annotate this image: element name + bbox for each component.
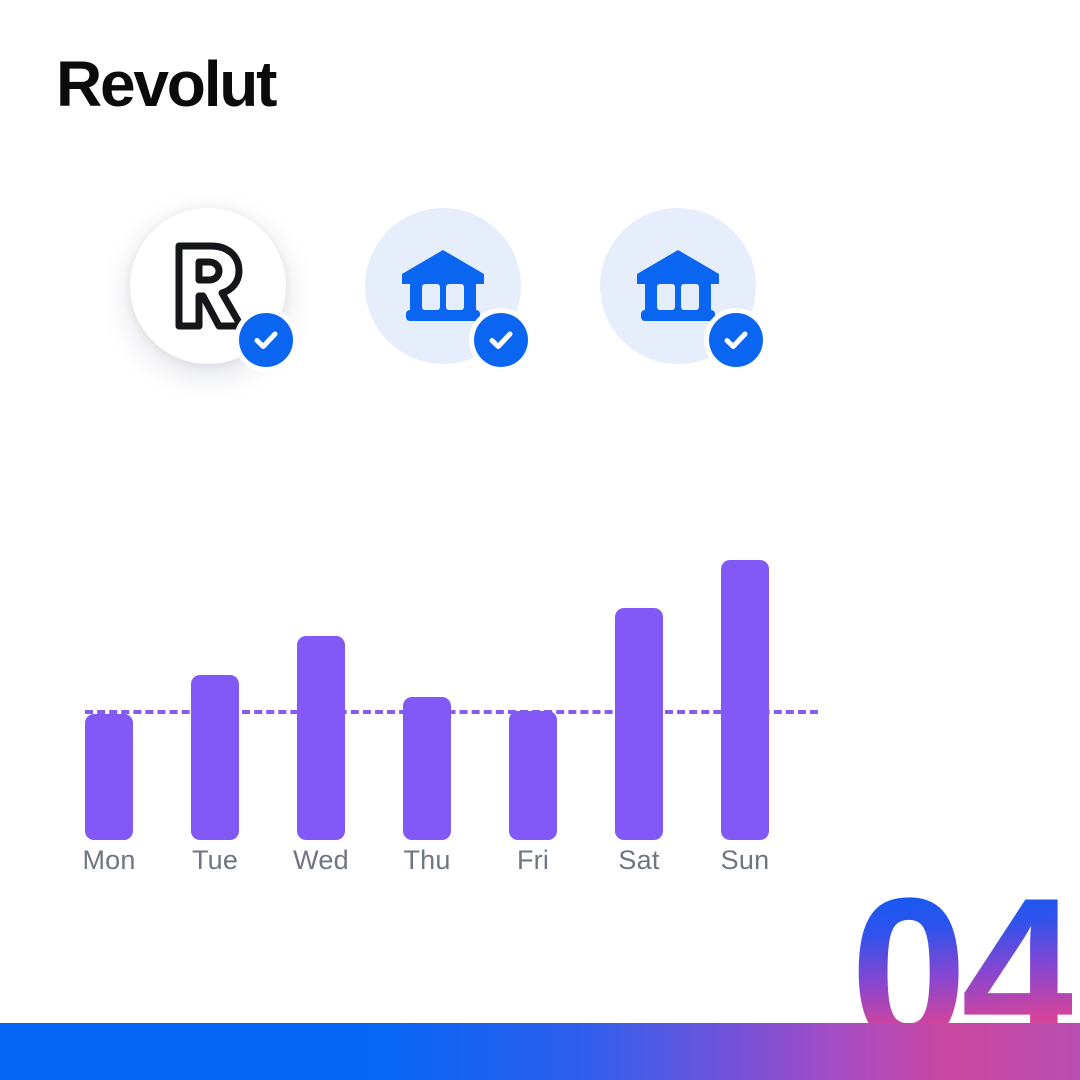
chart-bar[interactable] — [721, 560, 769, 840]
check-badge-icon — [239, 313, 293, 367]
chart-x-label: Thu — [372, 845, 482, 876]
chart-bar[interactable] — [191, 675, 239, 840]
revolut-r-logo-icon — [167, 240, 249, 332]
bank-icon — [400, 248, 486, 324]
account-item-bank-2[interactable] — [600, 208, 756, 364]
bank-icon — [635, 248, 721, 324]
chart-x-axis-labels: MonTueWedThuFriSatSun — [85, 845, 820, 885]
verified-badge — [704, 308, 768, 372]
verified-badge — [234, 308, 298, 372]
chart-bar[interactable] — [509, 711, 557, 840]
chart-bar[interactable] — [615, 608, 663, 840]
chart-bar[interactable] — [403, 697, 451, 840]
account-item-bank-1[interactable] — [365, 208, 521, 364]
check-badge-icon — [474, 313, 528, 367]
verified-badge — [469, 308, 533, 372]
chart-x-label: Fri — [478, 845, 588, 876]
revolut-promo-card: Revolut — [0, 0, 1080, 1080]
account-item-revolut[interactable] — [130, 208, 286, 364]
chart-bar[interactable] — [297, 636, 345, 840]
footer-gradient-bar — [0, 1023, 1080, 1080]
chart-bar[interactable] — [85, 714, 133, 840]
chart-plot-area — [85, 560, 820, 840]
chart-x-label: Sun — [690, 845, 800, 876]
chart-x-label: Wed — [266, 845, 376, 876]
brand-wordmark: Revolut — [56, 52, 275, 116]
weekly-activity-chart: MonTueWedThuFriSatSun — [0, 520, 1080, 890]
chart-x-label: Sat — [584, 845, 694, 876]
linked-accounts-row — [130, 208, 830, 398]
chart-x-label: Mon — [54, 845, 164, 876]
check-badge-icon — [709, 313, 763, 367]
chart-x-label: Tue — [160, 845, 270, 876]
